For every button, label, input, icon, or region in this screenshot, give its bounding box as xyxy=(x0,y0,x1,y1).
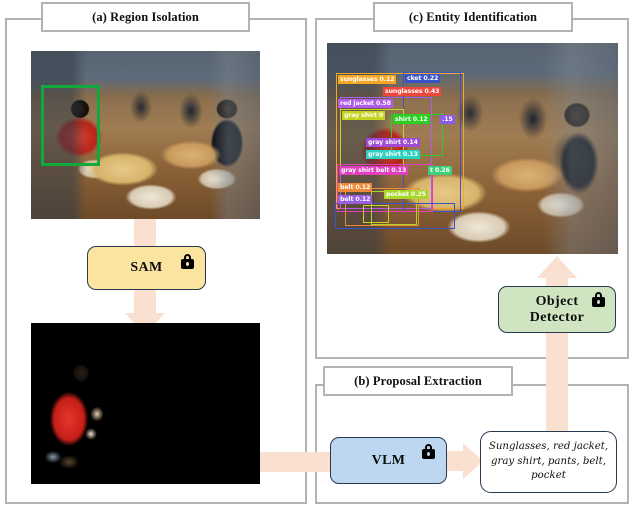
arrow-photo-to-sam xyxy=(134,219,156,247)
detection-photo: sunglasses 0.12 cket 0.22 sunglasses 0.4… xyxy=(327,43,618,254)
panel-c-title-text: (c) Entity Identification xyxy=(409,10,537,25)
detection-label: pocket 0.25 xyxy=(384,190,428,199)
detection-label: shirt 0.12 xyxy=(393,115,430,124)
object-detector-module[interactable]: Object Detector xyxy=(498,286,616,333)
sam-module[interactable]: SAM xyxy=(87,246,206,290)
lock-icon xyxy=(592,292,605,307)
detection-label: belt 0.12 xyxy=(338,195,372,204)
panel-c-title: (c) Entity Identification xyxy=(373,2,573,32)
proposal-text-box: Sunglasses, red jacket, gray shirt, pant… xyxy=(480,431,617,493)
vlm-module[interactable]: VLM xyxy=(330,437,447,484)
object-detector-label-line1: Object xyxy=(536,294,579,310)
sam-label: SAM xyxy=(130,260,162,276)
detection-label: gray shirt 0.13 xyxy=(366,150,420,159)
detection-label: .15 xyxy=(440,115,455,124)
panel-a-title-text: (a) Region Isolation xyxy=(92,10,199,25)
lock-icon xyxy=(422,444,435,459)
region-bounding-box xyxy=(41,85,100,166)
panel-b-title-text: (b) Proposal Extraction xyxy=(354,374,482,389)
masked-photo xyxy=(31,323,260,484)
lock-icon xyxy=(181,254,194,269)
source-photo xyxy=(31,51,260,219)
detection-bbox xyxy=(363,205,389,223)
panel-a-title: (a) Region Isolation xyxy=(41,2,250,32)
arrow-mask-to-vlm xyxy=(260,452,332,472)
detection-label: gray shirt 0.14 xyxy=(366,138,420,147)
detection-label: t 0.26 xyxy=(428,166,452,175)
arrow-sam-to-mask-shaft xyxy=(134,290,156,315)
figure-root: (a) Region Isolation SAM (c) Entity Iden… xyxy=(0,0,634,510)
detection-label: gray shirt 0 xyxy=(342,111,385,120)
detection-bbox xyxy=(335,203,455,229)
object-detector-label-line2: Detector xyxy=(530,310,585,326)
panel-b-title: (b) Proposal Extraction xyxy=(323,366,513,396)
arrow-proposal-to-detector xyxy=(546,333,568,431)
vlm-label: VLM xyxy=(372,453,406,469)
detection-label: belt 0.12 xyxy=(338,183,372,192)
proposal-text: Sunglasses, red jacket, gray shirt, pant… xyxy=(487,440,610,484)
arrow-detector-to-photo-head xyxy=(537,256,577,278)
detection-label: sunglasses 0.43 xyxy=(383,87,441,96)
detection-label: red jacket 0.58 xyxy=(338,99,393,108)
arrow-vlm-to-proposal-shaft xyxy=(447,451,464,471)
detection-label: sunglasses 0.12 xyxy=(338,75,396,84)
detection-label: cket 0.22 xyxy=(405,74,440,83)
detection-label: gray shirt belt 0.13 xyxy=(339,166,408,175)
